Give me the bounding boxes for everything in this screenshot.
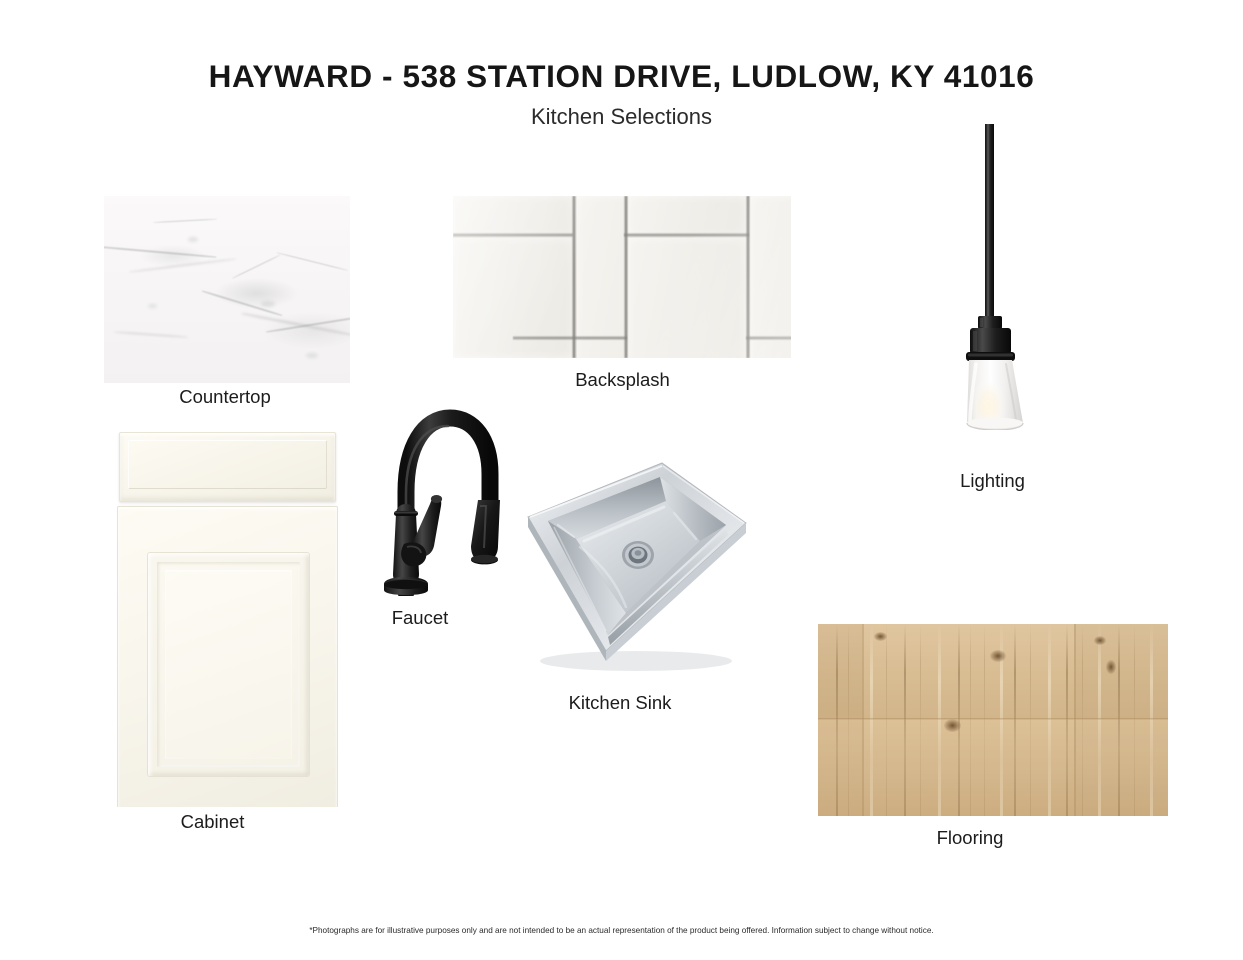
cabinet-door	[117, 506, 338, 807]
faucet-label: Faucet	[355, 607, 485, 629]
lighting-image	[940, 124, 1044, 430]
selection-sheet: HAYWARD - 538 STATION DRIVE, LUDLOW, KY …	[0, 0, 1243, 960]
cabinet-image	[117, 432, 338, 807]
cabinet-label: Cabinet	[105, 811, 320, 833]
backsplash-label: Backsplash	[500, 369, 745, 391]
lighting-label: Lighting	[920, 470, 1065, 492]
flooring-label: Flooring	[895, 827, 1045, 849]
kitchen-sink-label: Kitchen Sink	[545, 692, 695, 714]
countertop-image	[104, 196, 350, 383]
backsplash-image	[453, 196, 791, 358]
faucet-image	[374, 396, 502, 596]
cabinet-panel-frame-inner	[157, 562, 300, 767]
flooring-image	[818, 624, 1168, 816]
kitchen-sink-image	[514, 455, 750, 677]
cabinet-drawer-front	[119, 432, 336, 502]
disclaimer-text: *Photographs are for illustrative purpos…	[0, 926, 1243, 935]
countertop-label: Countertop	[105, 386, 345, 408]
page-subtitle: Kitchen Selections	[0, 104, 1243, 130]
page-title: HAYWARD - 538 STATION DRIVE, LUDLOW, KY …	[0, 58, 1243, 95]
cabinet-panel-frame-outer	[148, 553, 309, 776]
cabinet-panel-face	[165, 570, 292, 759]
